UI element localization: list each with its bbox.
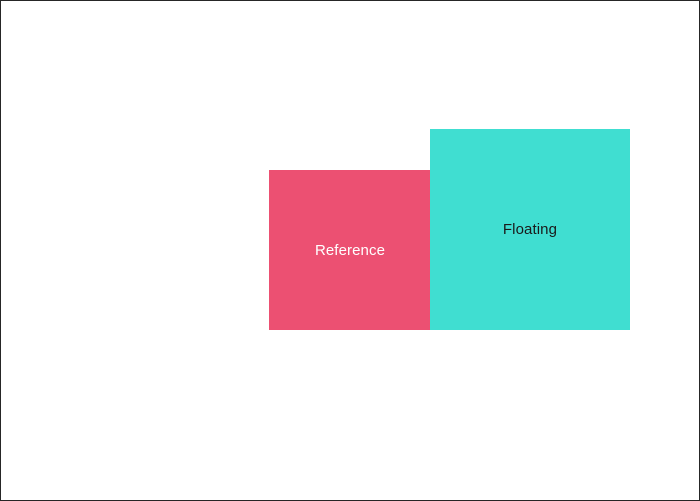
floating-rectangle-label: Floating [503,222,557,237]
floating-rectangle[interactable]: Floating [430,129,630,330]
reference-rectangle[interactable]: Reference [269,170,431,330]
reference-rectangle-label: Reference [315,243,385,258]
figure-canvas: Reference Floating [0,0,700,501]
